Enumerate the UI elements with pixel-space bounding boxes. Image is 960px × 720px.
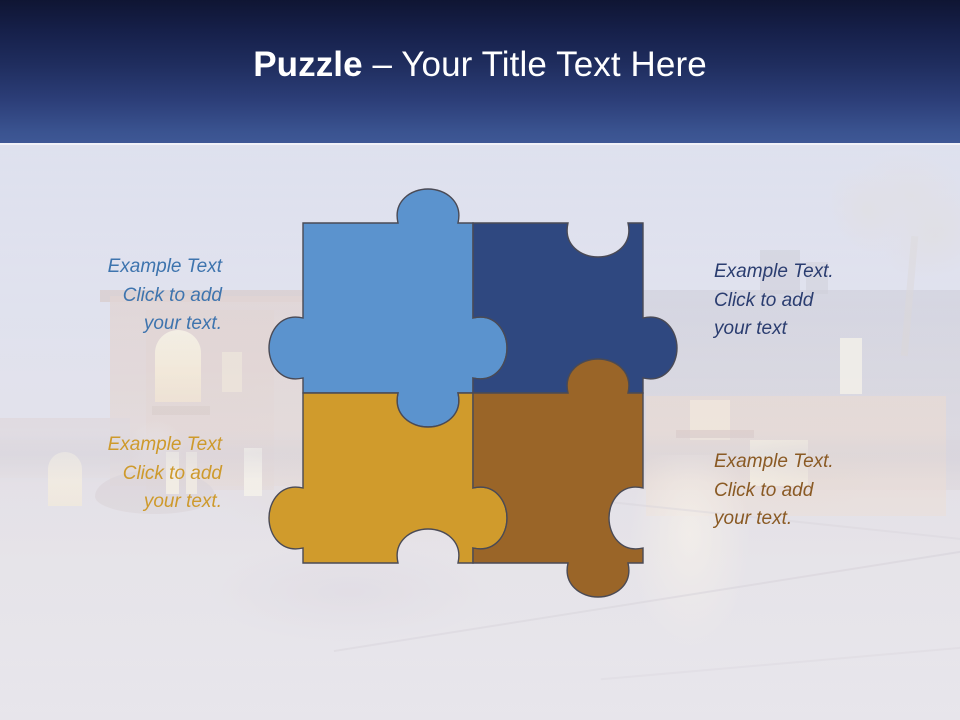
arched-window-left	[155, 330, 201, 402]
callout-bottom-right[interactable]: Example Text. Click to add your text.	[714, 448, 914, 534]
callout-bottom-left[interactable]: Example Text Click to add your text.	[40, 431, 222, 517]
title-banner-rule	[0, 143, 960, 145]
puzzle-graphic	[243, 163, 703, 623]
puzzle-piece-top-left[interactable]	[269, 189, 507, 427]
puzzle-piece-bottom-right[interactable]	[473, 359, 643, 597]
callout-top-left[interactable]: Example Text Click to add your text.	[40, 253, 222, 339]
slide-canvas: Puzzle – Your Title Text Here Example Te…	[0, 0, 960, 720]
title-strong: Puzzle	[253, 45, 363, 84]
title-rest: – Your Title Text Here	[363, 45, 707, 84]
balcony-left	[152, 406, 210, 415]
window-left-small	[222, 352, 242, 392]
callout-top-right[interactable]: Example Text. Click to add your text	[714, 258, 914, 344]
page-title: Puzzle – Your Title Text Here	[0, 43, 960, 87]
puzzle-piece-bottom-left[interactable]	[269, 393, 507, 563]
window-right-upper	[840, 338, 862, 394]
